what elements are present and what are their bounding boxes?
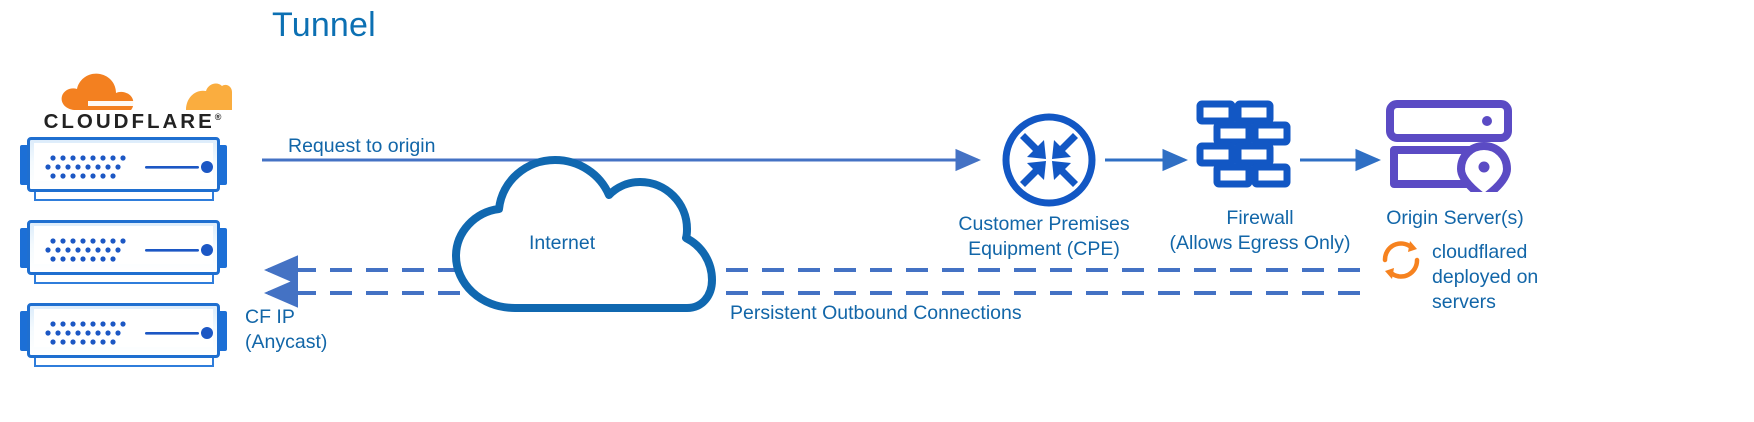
request-to-origin-label: Request to origin xyxy=(288,134,435,159)
brick-wall-icon xyxy=(1196,100,1292,190)
sync-circular-arrows-icon xyxy=(1377,236,1425,284)
cpe-four-arrows-circle-icon xyxy=(1000,111,1098,209)
origin-server-pin-icon xyxy=(1386,100,1514,192)
internet-label: Internet xyxy=(529,231,595,256)
cf-ip-anycast-label: CF IP (Anycast) xyxy=(245,305,327,355)
internet-cloud-icon xyxy=(440,140,730,315)
origin-server-label: Origin Server(s) xyxy=(1376,206,1534,231)
firewall-label: Firewall (Allows Egress Only) xyxy=(1158,206,1362,256)
persistent-outbound-connections-label: Persistent Outbound Connections xyxy=(730,301,1022,326)
tunnel-architecture-diagram: Tunnel CLOUDFLARE® xyxy=(0,0,1754,422)
cloudflared-deployed-label: cloudflared deployed on servers xyxy=(1432,240,1542,315)
cpe-label: Customer Premises Equipment (CPE) xyxy=(948,212,1140,262)
